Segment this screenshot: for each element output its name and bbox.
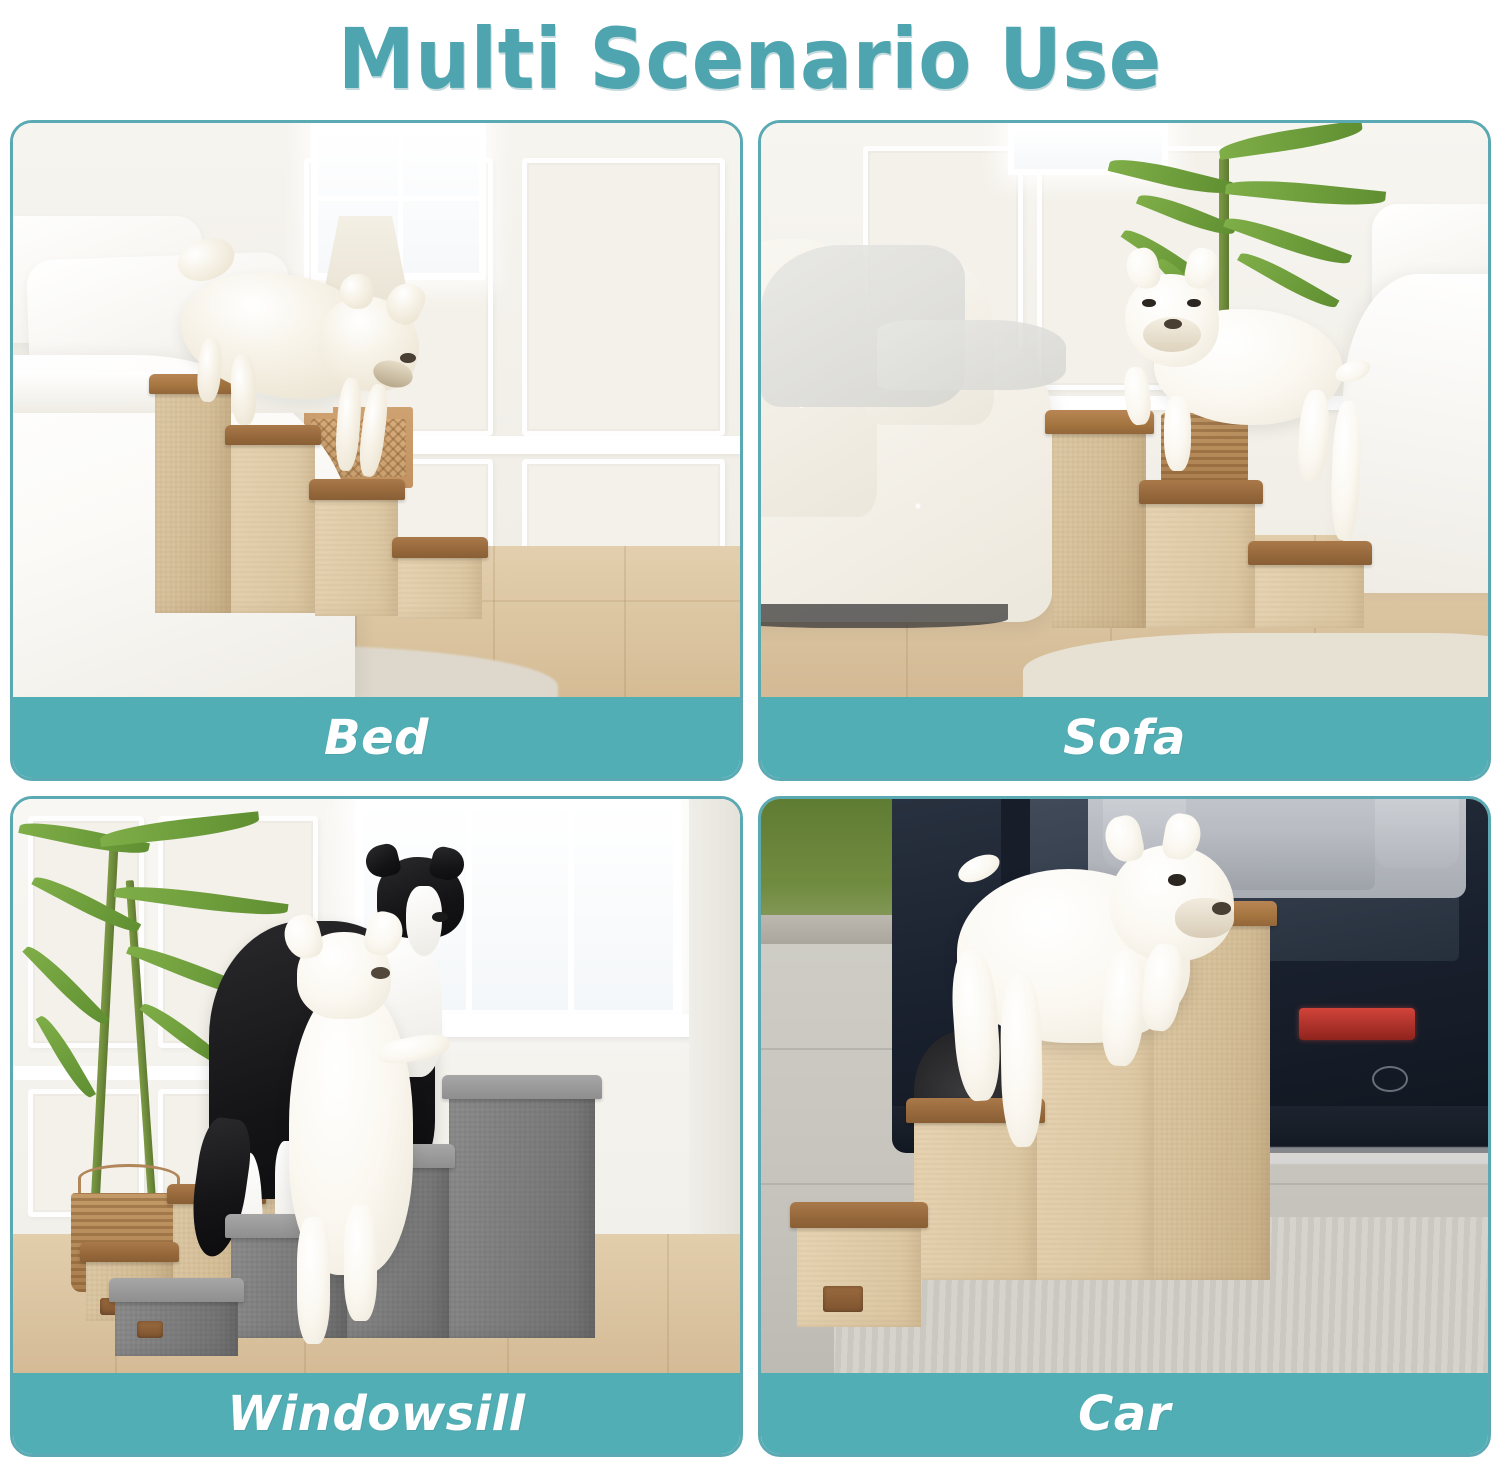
sofa-label-bar: Sofa (761, 697, 1488, 778)
collie-nose (432, 912, 448, 922)
throw-blanket (877, 320, 1066, 390)
grey-stair-step-4 (449, 1095, 594, 1339)
stair-step-1 (398, 552, 482, 619)
stair-step-2 (1146, 500, 1255, 628)
taillight (1299, 1008, 1415, 1040)
stair-tread-2 (1139, 480, 1263, 504)
basket-handle (78, 1164, 180, 1193)
dog-front-leg (1164, 396, 1190, 471)
sofa-scene-photo (761, 123, 1488, 703)
dog-leg (230, 355, 257, 425)
scenario-card-grid: Bed (10, 120, 1494, 1457)
car-label: Car (1078, 1386, 1171, 1442)
dog-ear (339, 273, 375, 310)
frenchie-hind-leg (297, 1217, 330, 1345)
windowsill-label: Windowsill (227, 1386, 525, 1442)
stair-tread-1 (1248, 541, 1372, 565)
dog-nose (1212, 902, 1231, 915)
windowsill-scene-photo (13, 799, 740, 1379)
page-title: Multi Scenario Use (338, 10, 1162, 108)
grey-stair-step-1 (115, 1298, 239, 1356)
scenario-card-bed[interactable]: Bed (10, 120, 743, 781)
grey-stair-tread-4 (442, 1075, 602, 1099)
frenchie-eye (371, 967, 390, 979)
sofa-scene-icon (761, 123, 1488, 703)
sofa-base (761, 604, 1008, 627)
car-label-bar: Car (761, 1373, 1488, 1454)
beige-stair-tread-1 (80, 1242, 179, 1262)
bed-scene-icon (13, 123, 740, 703)
bed-label: Bed (324, 710, 429, 766)
stair-step-2 (315, 494, 399, 616)
windowsill-label-bar: Windowsill (13, 1373, 740, 1454)
floor-rug (1023, 633, 1488, 703)
sofa-label: Sofa (1063, 710, 1186, 766)
brand-logo-patch (137, 1321, 163, 1338)
scenario-card-sofa[interactable]: Sofa (758, 120, 1491, 781)
wall-panel (522, 158, 726, 436)
wall-return (689, 799, 740, 1246)
bed-scene-photo (13, 123, 740, 703)
stair-step-1 (1255, 561, 1364, 628)
dog-hind-leg (999, 973, 1043, 1148)
scenario-card-windowsill[interactable]: Windowsill (10, 796, 743, 1457)
stair-step-3 (1052, 430, 1147, 627)
scenario-card-car[interactable]: Car (758, 796, 1491, 1457)
stair-tread-1 (790, 1202, 928, 1228)
brand-logo-patch (823, 1286, 863, 1312)
car-scene-photo (761, 799, 1488, 1379)
car-scene-icon (761, 799, 1488, 1379)
dog-eye (1168, 874, 1185, 886)
stair-tread-3 (225, 425, 321, 446)
windowsill-scene-icon (13, 799, 740, 1379)
stair-step-4 (155, 387, 231, 613)
infographic-root: Multi Scenario Use (0, 0, 1500, 1467)
stair-tread-2 (309, 479, 405, 500)
frenchie-hind-leg (344, 1205, 377, 1321)
grey-stair-tread-1 (109, 1278, 244, 1302)
stair-step-3 (231, 439, 315, 613)
dog-nose (400, 353, 416, 363)
page-title-container: Multi Scenario Use (0, 0, 1500, 118)
bed-label-bar: Bed (13, 697, 740, 778)
stair-tread-1 (392, 537, 488, 558)
